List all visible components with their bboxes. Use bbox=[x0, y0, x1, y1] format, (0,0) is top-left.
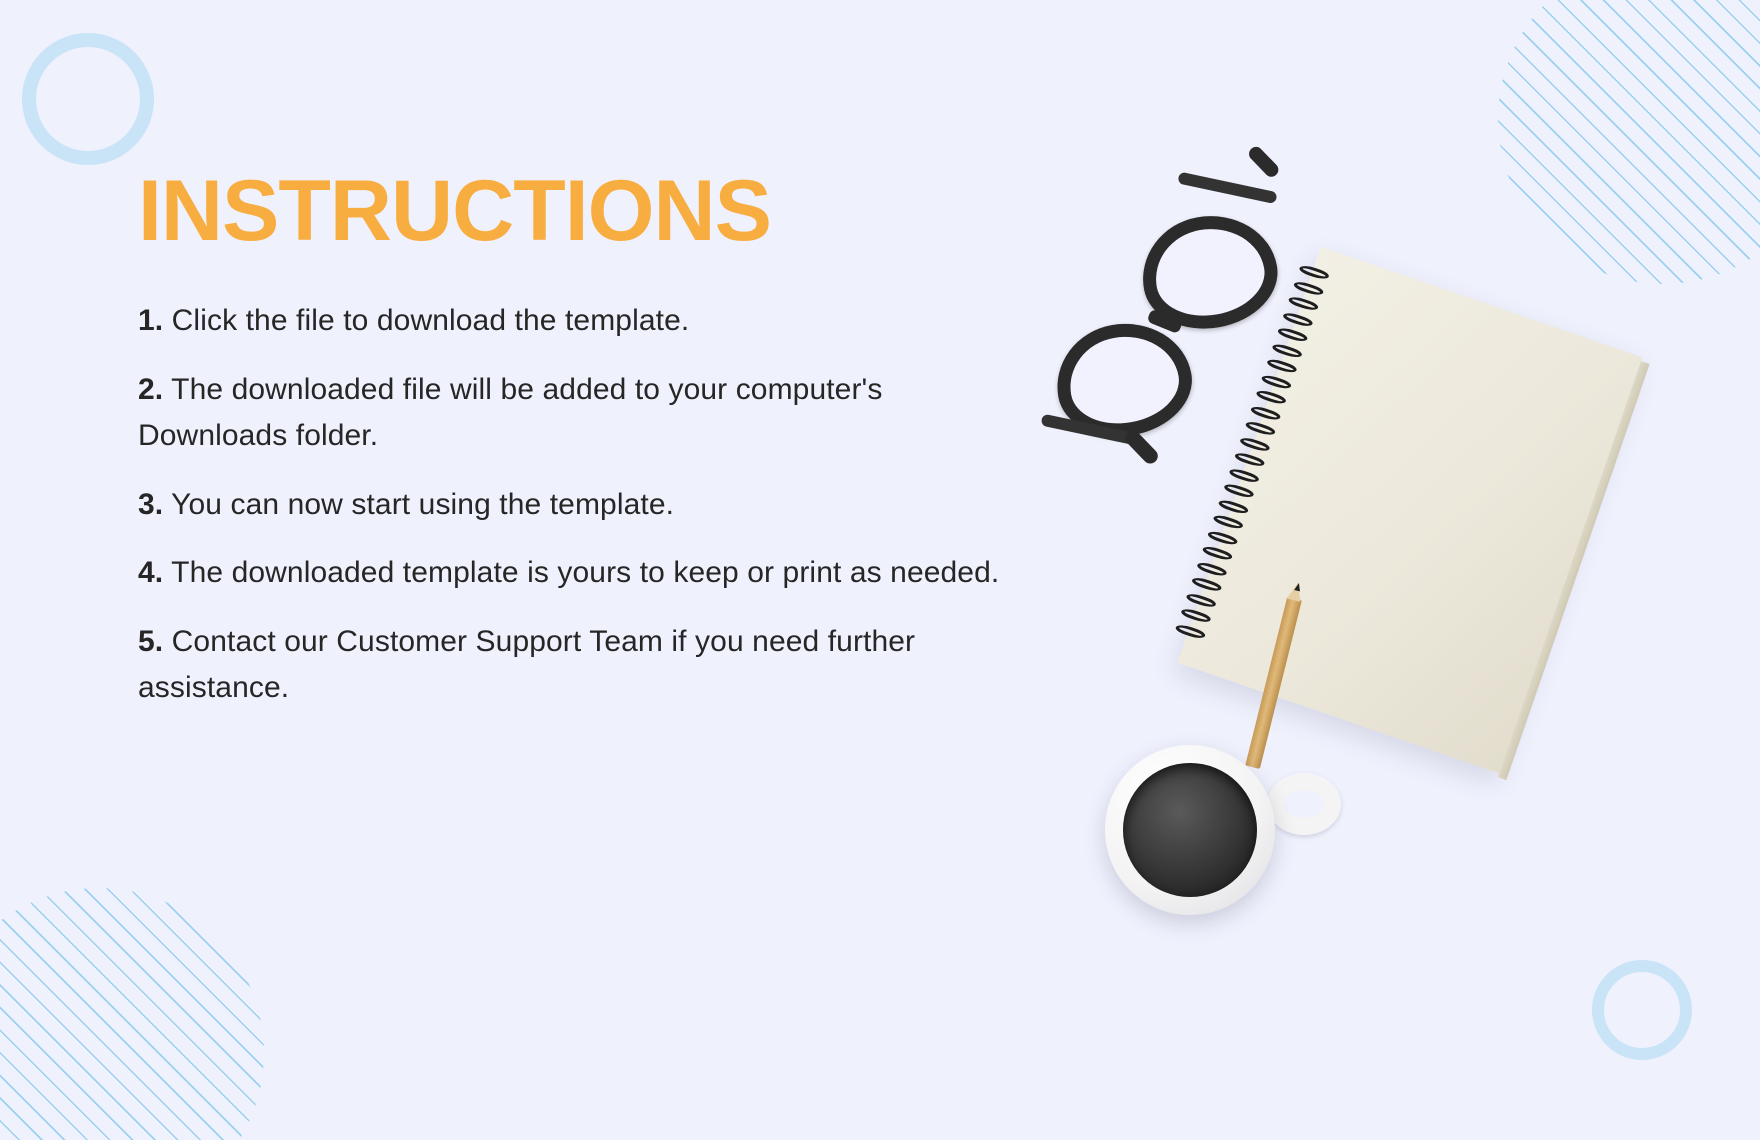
diagonal-stripe-pattern bbox=[0, 888, 264, 1140]
spiral-coil bbox=[1291, 280, 1326, 297]
list-item: 2. The downloaded file will be added to … bbox=[138, 367, 1018, 460]
list-item-number: 5. bbox=[138, 625, 163, 658]
list-item-text: Contact our Customer Support Team if you… bbox=[138, 625, 915, 705]
glasses-temple-tip-upper bbox=[1246, 144, 1281, 180]
list-item: 3. You can now start using the template. bbox=[138, 482, 1018, 529]
spiral-coil bbox=[1184, 592, 1219, 609]
notebook-page-edge bbox=[1498, 361, 1650, 780]
list-item-text: The downloaded file will be added to you… bbox=[138, 373, 882, 453]
spiral-coil bbox=[1286, 295, 1321, 312]
list-item-text: You can now start using the template. bbox=[171, 488, 674, 521]
mug-body bbox=[1105, 745, 1275, 915]
list-item-text: Click the file to download the template. bbox=[172, 304, 690, 337]
spiral-coil bbox=[1264, 358, 1299, 375]
spiral-coil bbox=[1200, 545, 1235, 562]
instruction-list: 1. Click the file to download the templa… bbox=[138, 298, 1018, 712]
list-item: 4. The downloaded template is yours to k… bbox=[138, 550, 1018, 597]
spiral-coil bbox=[1275, 326, 1310, 343]
spiral-coil bbox=[1243, 420, 1278, 437]
spiral-coil bbox=[1189, 576, 1224, 593]
spiral-coil bbox=[1216, 498, 1251, 515]
desk-photo-group bbox=[1000, 180, 1760, 980]
list-item-number: 1. bbox=[138, 304, 163, 337]
list-item-number: 4. bbox=[138, 556, 163, 589]
list-item: 5. Contact our Customer Support Team if … bbox=[138, 619, 1018, 712]
spiral-coil bbox=[1178, 607, 1213, 624]
spiral-coil bbox=[1248, 404, 1283, 421]
spiral-coil bbox=[1210, 514, 1245, 531]
spiral-coil bbox=[1270, 342, 1305, 359]
spiral-coil bbox=[1194, 560, 1229, 577]
spiral-coil bbox=[1221, 482, 1256, 499]
list-item-number: 2. bbox=[138, 373, 163, 406]
spiral-coil bbox=[1253, 389, 1288, 406]
list-item-number: 3. bbox=[138, 488, 163, 521]
stripes-bottom-left-decoration bbox=[0, 888, 264, 1140]
instructions-slide: INSTRUCTIONS 1. Click the file to downlo… bbox=[0, 0, 1760, 1140]
coffee-surface bbox=[1123, 763, 1257, 897]
spiral-coil bbox=[1259, 373, 1294, 390]
spiral-coil bbox=[1237, 436, 1272, 453]
ring-top-left-decoration bbox=[22, 33, 154, 165]
list-item-text: The downloaded template is yours to keep… bbox=[171, 556, 999, 589]
spiral-coil bbox=[1280, 311, 1315, 328]
mug-handle bbox=[1267, 773, 1341, 835]
spiral-coil bbox=[1173, 623, 1208, 640]
list-item: 1. Click the file to download the templa… bbox=[138, 298, 1018, 345]
spiral-coil bbox=[1205, 529, 1240, 546]
content-column: INSTRUCTIONS 1. Click the file to downlo… bbox=[138, 168, 1018, 734]
spiral-coil bbox=[1227, 467, 1262, 484]
spiral-coil bbox=[1296, 264, 1331, 281]
spiral-coil bbox=[1232, 451, 1267, 468]
page-title: INSTRUCTIONS bbox=[138, 168, 1018, 254]
glasses-temple-upper bbox=[1177, 172, 1277, 205]
glasses-temple-tip-lower bbox=[1122, 427, 1161, 466]
coffee-mug-image bbox=[1105, 745, 1315, 935]
